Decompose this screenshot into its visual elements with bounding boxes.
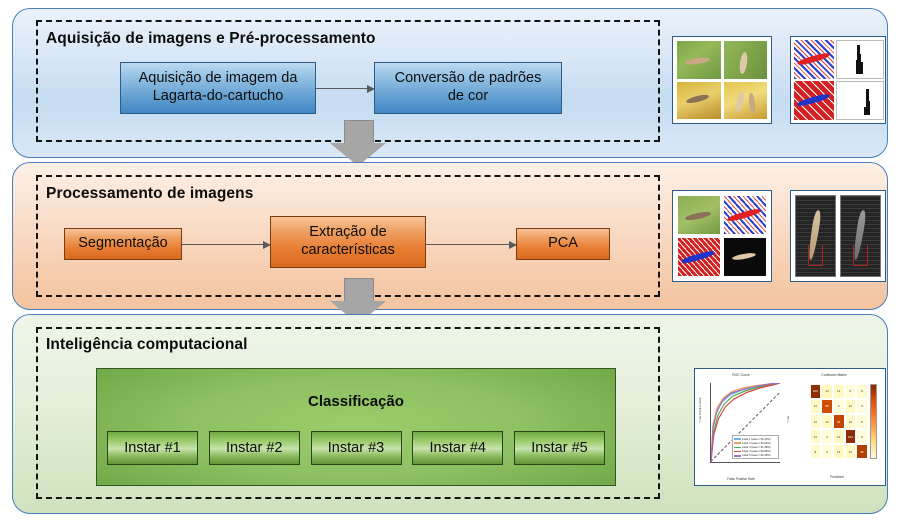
confusion-cell-5-2: 4	[821, 444, 833, 459]
stage-original-photo	[678, 196, 720, 234]
box-aquisicao-de-imagem[interactable]: Aquisição de imagem da Lagarta-do-cartuc…	[120, 62, 316, 114]
instar-button-row: Instar #1 Instar #2 Instar #3 Instar #4 …	[107, 431, 605, 465]
box-extracao-de-caracteristicas[interactable]: Extração de características	[270, 216, 426, 268]
roc-curve-chart: ROC Curve Instar 1 (area = 91.25%)	[699, 373, 783, 481]
box-conversao-line2: de cor	[448, 88, 488, 104]
histogram-plot-top	[836, 40, 884, 79]
panel-intelligence-title: Inteligência computacional	[46, 336, 248, 354]
confusion-cell-1-5: 8	[856, 384, 868, 399]
confusion-cell-3-4: 10	[845, 414, 857, 429]
processing-stages-thumbnail	[672, 190, 772, 282]
segmented-image-blue	[794, 40, 834, 79]
confusion-cell-1-1: 103	[810, 384, 822, 399]
measurement-panel-a	[795, 195, 836, 277]
legend-label-instar-4: Instar 4 (area = 90.85%)	[742, 450, 771, 453]
confusion-cell-4-2: 4	[821, 429, 833, 444]
legend-label-instar-1: Instar 1 (area = 91.25%)	[742, 438, 771, 441]
confusion-cell-4-3: 12	[833, 429, 845, 444]
confusion-matrix-colorbar	[870, 384, 878, 460]
confusion-cell-5-5: 95	[856, 444, 868, 459]
confusion-cell-2-3: 4	[833, 399, 845, 414]
measurement-panel-b	[840, 195, 881, 277]
box-conversao-line1: Conversão de padrões	[395, 70, 542, 86]
color-segmentation-histograms-thumbnail	[790, 36, 886, 124]
confusion-cell-2-5: 3	[856, 399, 868, 414]
stage-red-channel	[678, 238, 720, 276]
flow-diagram: Aquisição de imagens e Pré-processamento…	[0, 0, 900, 522]
legend-row-instar-5: Instar 5 (area = 92.48%)	[734, 454, 778, 458]
box-segmentacao[interactable]: Segmentação	[64, 228, 182, 260]
legend-label-instar-5: Instar 5 (area = 92.48%)	[742, 454, 771, 457]
confusion-cell-1-2: 14	[821, 384, 833, 399]
confusion-matrix-chart: Confusion Matrix 10314125812884123101292…	[787, 373, 881, 481]
box-aquisicao-line1: Aquisição de imagem da	[139, 70, 298, 86]
photo-caterpillar-on-leaf-a	[677, 41, 721, 79]
confusion-cell-3-3: 92	[833, 414, 845, 429]
panel-acquisition-title: Aquisição de imagens e Pré-processamento	[46, 30, 376, 48]
confusion-cell-3-2: 12	[821, 414, 833, 429]
instar-5-box[interactable]: Instar #5	[514, 431, 605, 465]
box-pca-label: PCA	[548, 235, 578, 253]
stage-binary-mask	[724, 238, 766, 276]
arrow-extracao-to-pca	[426, 244, 516, 245]
down-arrow-acquisition-to-processing	[330, 120, 386, 166]
confusion-cell-5-1: 8	[810, 444, 822, 459]
roc-ylabel: True Positive Rate	[698, 397, 702, 422]
confusion-cell-2-1: 12	[810, 399, 822, 414]
confusion-cell-4-1: 11	[810, 429, 822, 444]
box-pca[interactable]: PCA	[516, 228, 610, 260]
cm-ylabel: True	[786, 416, 790, 422]
instar-1-box[interactable]: Instar #1	[107, 431, 198, 465]
measurement-dark-panels-thumbnail	[790, 190, 886, 282]
confusion-cell-3-1: 10	[810, 414, 822, 429]
confusion-cell-4-5: 4	[856, 429, 868, 444]
confusion-cell-5-4: 12	[845, 444, 857, 459]
box-extracao-line2: características	[301, 242, 394, 258]
panel-processing-title: Processamento de imagens	[46, 185, 253, 203]
instar-3-box[interactable]: Instar #3	[311, 431, 402, 465]
confusion-cell-1-3: 12	[833, 384, 845, 399]
confusion-matrix-grid: 1031412581288412310129210511412104484121…	[810, 384, 868, 460]
box-conversao-de-padroes-de-cor[interactable]: Conversão de padrões de cor	[374, 62, 562, 114]
roc-xlabel: False Positive Rate	[699, 477, 783, 481]
box-segmentacao-label: Segmentação	[78, 235, 167, 253]
arrow-aquisicao-to-conversao	[316, 88, 374, 89]
roc-confusion-matrix-thumbnail: ROC Curve Instar 1 (area = 91.25%)	[694, 368, 886, 486]
classificacao-label: Classificação	[97, 393, 615, 410]
caterpillar-photo-grid-thumbnail	[672, 36, 772, 124]
legend-label-instar-2: Instar 2 (area = 94.02%)	[742, 442, 771, 445]
arrow-segmentacao-to-extracao	[182, 244, 270, 245]
confusion-cell-5-3: 12	[833, 444, 845, 459]
box-extracao-line1: Extração de	[309, 224, 386, 240]
instar-4-box[interactable]: Instar #4	[412, 431, 503, 465]
confusion-cell-3-5: 5	[856, 414, 868, 429]
legend-label-instar-3: Instar 3 (area = 91.38%)	[742, 446, 771, 449]
photo-caterpillar-on-leaf-b	[724, 41, 768, 79]
confusion-cell-1-4: 5	[845, 384, 857, 399]
confusion-cell-2-4: 12	[845, 399, 857, 414]
segmented-image-red	[794, 81, 834, 120]
box-classificacao[interactable]: Classificação Instar #1 Instar #2 Instar…	[96, 368, 616, 486]
instar-2-box[interactable]: Instar #2	[209, 431, 300, 465]
cm-xlabel: Predicted	[806, 475, 868, 479]
confusion-cell-2-2: 88	[821, 399, 833, 414]
box-aquisicao-line2: Lagarta-do-cartucho	[153, 88, 284, 104]
photo-caterpillar-on-corn-a	[677, 82, 721, 120]
photo-caterpillar-on-corn-b	[724, 82, 768, 120]
roc-legend: Instar 1 (area = 91.25%) Instar 2 (area …	[732, 435, 779, 459]
stage-blue-channel	[724, 196, 766, 234]
roc-curve-title: ROC Curve	[699, 373, 783, 377]
histogram-plot-bottom	[836, 81, 884, 120]
confusion-cell-4-4: 104	[845, 429, 857, 444]
confusion-matrix-title: Confusion Matrix	[787, 373, 881, 377]
